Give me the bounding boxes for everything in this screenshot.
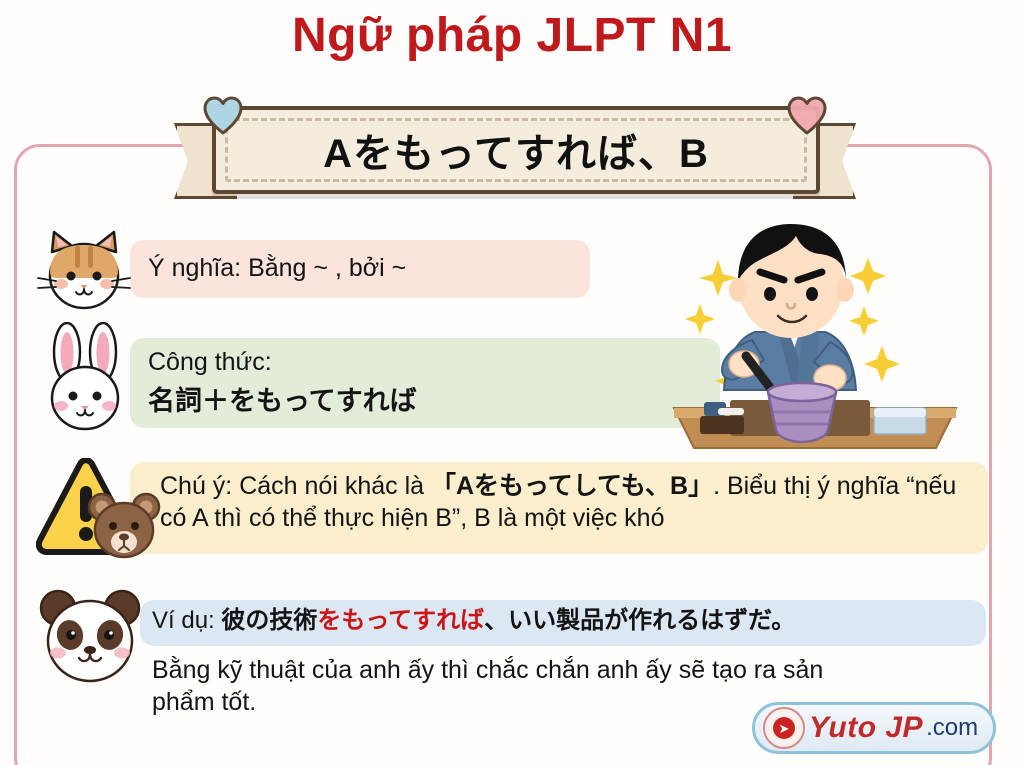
grammar-point-text: Aをもってすれば、B: [216, 110, 816, 190]
page-title: Ngữ pháp JLPT N1: [0, 8, 1024, 63]
example-label: Ví dụ:: [152, 607, 221, 634]
note-alt-pattern: 「Aをもってしても、B」: [431, 472, 713, 500]
note-text: Chú ý: Cách nói khác là 「Aをもってしても、B」. Bi…: [160, 470, 980, 534]
example-jp-part1: 彼の技術: [221, 607, 317, 634]
example-jp-part2: 、いい製品が作れるはずだ。: [484, 607, 795, 634]
note-prefix: Chú ý: Cách nói khác là: [160, 472, 431, 500]
formula-label: Công thức:: [148, 346, 272, 378]
logo-tld: .com: [926, 714, 978, 742]
rabbit-icon: [36, 322, 134, 434]
grammar-banner: Aをもってすれば、B: [170, 96, 860, 202]
craftsman-painting-pottery-illustration: [660, 212, 970, 460]
arrow-glyph: ➤: [773, 717, 795, 739]
cat-icon: [34, 226, 134, 314]
meaning-text: Ý nghĩa: Bằng ~ , bởi ~: [148, 252, 406, 284]
grammar-card: Ngữ pháp JLPT N1 Aをもってすれば、B: [0, 0, 1024, 765]
site-logo[interactable]: ➤ Yuto JP .com: [752, 702, 996, 754]
arrow-target-icon: ➤: [763, 707, 805, 749]
example-jp-highlight: をもってすれば: [317, 607, 484, 634]
bear-icon: [84, 490, 164, 562]
example-translation: Bằng kỹ thuật của anh ấy thì chắc chắn a…: [152, 654, 842, 718]
formula-pattern: 名詞＋をもってすれば: [148, 384, 417, 419]
heart-icon-pink: [787, 96, 827, 136]
logo-name: Yuto JP: [809, 711, 923, 745]
panda-icon: [36, 586, 144, 686]
ribbon-body: Aをもってすれば、B: [212, 106, 820, 194]
heart-icon-blue: [203, 96, 243, 136]
example-japanese: Ví dụ: 彼の技術をもってすれば、いい製品が作れるはずだ。: [152, 606, 795, 637]
